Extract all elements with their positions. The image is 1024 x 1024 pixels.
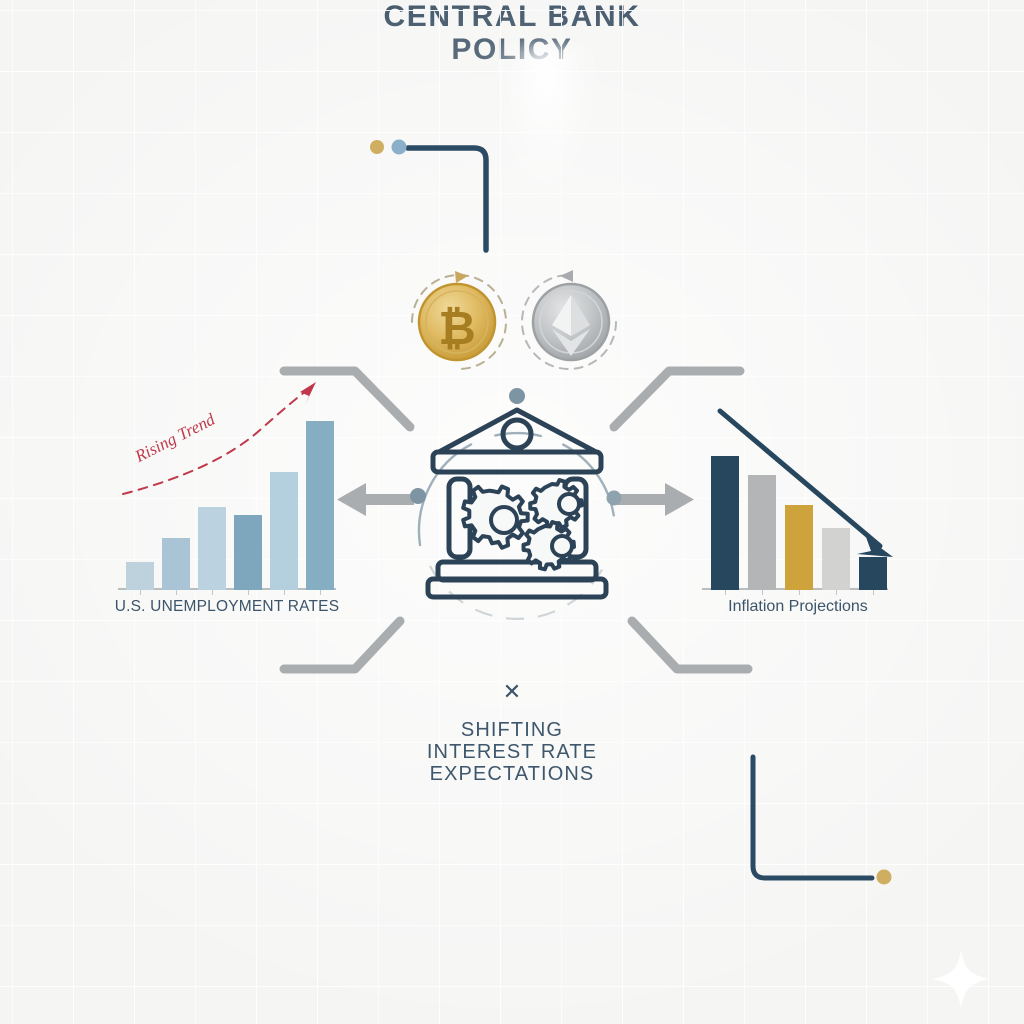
chart-right-overlay <box>0 0 1024 1024</box>
subtitle-line-3: EXPECTATIONS <box>0 763 1024 785</box>
subtitle-line-2: INTEREST RATE <box>0 741 1024 763</box>
subtitle-block: SHIFTING INTEREST RATE EXPECTATIONS <box>0 719 1024 785</box>
declining-trend-line <box>720 411 880 546</box>
infographic-canvas: ₿ <box>0 0 1024 1024</box>
title-separator-x: ✕ <box>0 679 1024 705</box>
chart-right-label: Inflation Projections <box>698 598 898 616</box>
subtitle-line-1: SHIFTING <box>0 719 1024 741</box>
